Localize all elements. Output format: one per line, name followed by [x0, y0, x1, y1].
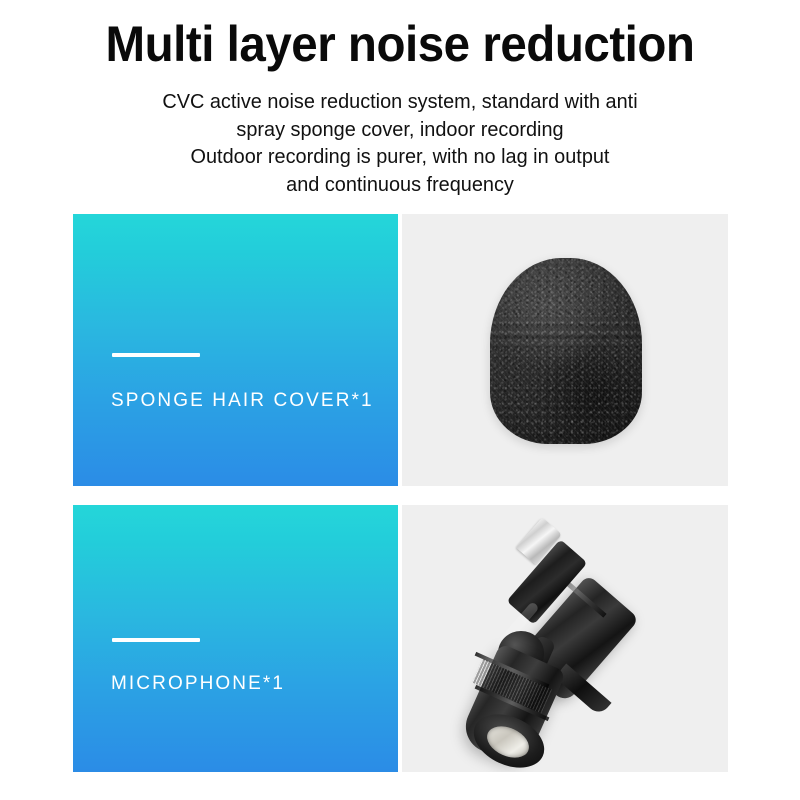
accent-rule [112, 638, 200, 642]
page-subtitle: CVC active noise reduction system, stand… [70, 88, 730, 198]
card-label-sponge: SPONGE HAIR COVER*1 [111, 390, 374, 412]
card-label-microphone: MICROPHONE*1 [111, 673, 285, 695]
product-card-sponge-hair-cover: SPONGE HAIR COVER*1 [73, 214, 728, 486]
gradient-label-panel-microphone: MICROPHONE*1 [73, 505, 398, 772]
page-title: Multi layer noise reduction [20, 16, 780, 72]
photo-panel-sponge [402, 214, 728, 486]
photo-panel-microphone [402, 505, 728, 772]
gradient-label-panel-sponge: SPONGE HAIR COVER*1 [73, 214, 398, 486]
product-card-microphone: MICROPHONE*1 [73, 505, 728, 772]
microphone-image [402, 505, 728, 772]
product-feature-page: Multi layer noise reduction CVC active n… [0, 0, 800, 800]
accent-rule [112, 353, 200, 357]
subtitle-line-4: and continuous frequency [70, 171, 730, 199]
subtitle-line-1: CVC active noise reduction system, stand… [70, 88, 730, 116]
sponge-windscreen-image [490, 258, 642, 444]
subtitle-line-2: spray sponge cover, indoor recording [70, 116, 730, 144]
subtitle-line-3: Outdoor recording is purer, with no lag … [70, 143, 730, 171]
sponge-shading [490, 258, 642, 444]
